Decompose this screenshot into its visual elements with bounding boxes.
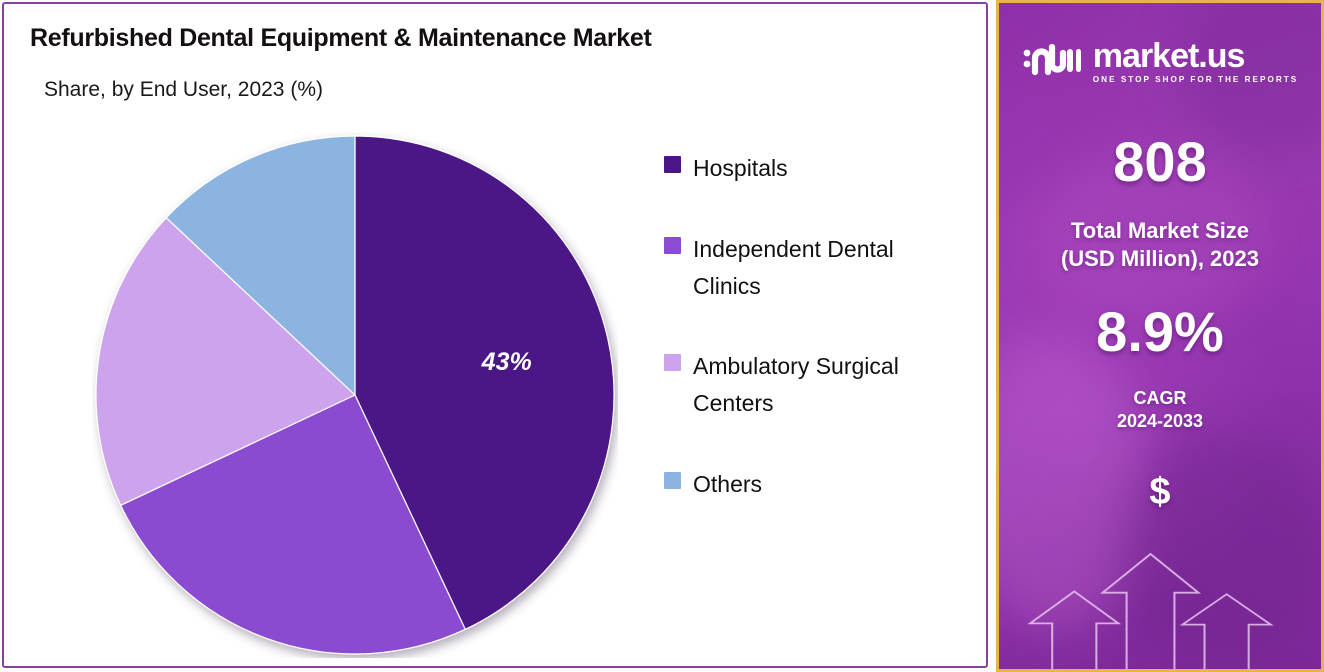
growth-arrows-icon: [999, 539, 1321, 669]
legend-item-label: Hospitals: [693, 150, 788, 187]
total-market-size-caption-line1: Total Market Size: [999, 217, 1321, 245]
legend-swatch-icon: [664, 237, 681, 254]
legend-item[interactable]: Independent Dental Clinics: [664, 231, 964, 305]
chart-subtitle: Share, by End User, 2023 (%): [44, 78, 323, 102]
total-market-size-value: 808: [999, 129, 1321, 194]
dollar-icon: $: [999, 471, 1321, 514]
legend-swatch-icon: [664, 354, 681, 371]
pie-slices: [96, 136, 614, 654]
legend-item-label: Ambulatory Surgical Centers: [693, 348, 963, 422]
stats-sidebar: market.us ONE STOP SHOP FOR THE REPORTS …: [996, 0, 1324, 672]
pie-chart: 43%: [92, 132, 618, 658]
page-title: Refurbished Dental Equipment & Maintenan…: [30, 24, 652, 53]
legend-item[interactable]: Hospitals: [664, 150, 964, 187]
legend-item-label: Independent Dental Clinics: [693, 231, 963, 305]
cagr-caption-line1: CAGR: [999, 387, 1321, 410]
legend-swatch-icon: [664, 156, 681, 173]
legend-item[interactable]: Others: [664, 466, 964, 503]
legend-item[interactable]: Ambulatory Surgical Centers: [664, 348, 964, 422]
brand-wordmark: market.us: [1093, 37, 1245, 75]
chart-legend: HospitalsIndependent Dental ClinicsAmbul…: [664, 150, 964, 547]
pie-chart-svg: 43%: [92, 132, 618, 658]
brand-logo: market.us ONE STOP SHOP FOR THE REPORTS: [999, 39, 1321, 84]
pie-slice-value-label: 43%: [481, 348, 532, 376]
logo-mark-svg: [1022, 39, 1082, 79]
legend-swatch-icon: [664, 472, 681, 489]
total-market-size-caption: Total Market Size (USD Million), 2023: [999, 217, 1321, 273]
cagr-caption: CAGR 2024-2033: [999, 387, 1321, 434]
pie-slice-labels: 43%: [481, 348, 532, 376]
chart-panel: Refurbished Dental Equipment & Maintenan…: [2, 2, 988, 668]
infographic-root: Refurbished Dental Equipment & Maintenan…: [0, 0, 1324, 672]
total-market-size-caption-line2: (USD Million), 2023: [999, 245, 1321, 273]
brand-tagline: ONE STOP SHOP FOR THE REPORTS: [1093, 76, 1298, 84]
cagr-value: 8.9%: [999, 299, 1321, 364]
legend-item-label: Others: [693, 466, 762, 503]
market-us-logo-icon: [1022, 39, 1082, 84]
cagr-caption-line2: 2024-2033: [999, 410, 1321, 433]
